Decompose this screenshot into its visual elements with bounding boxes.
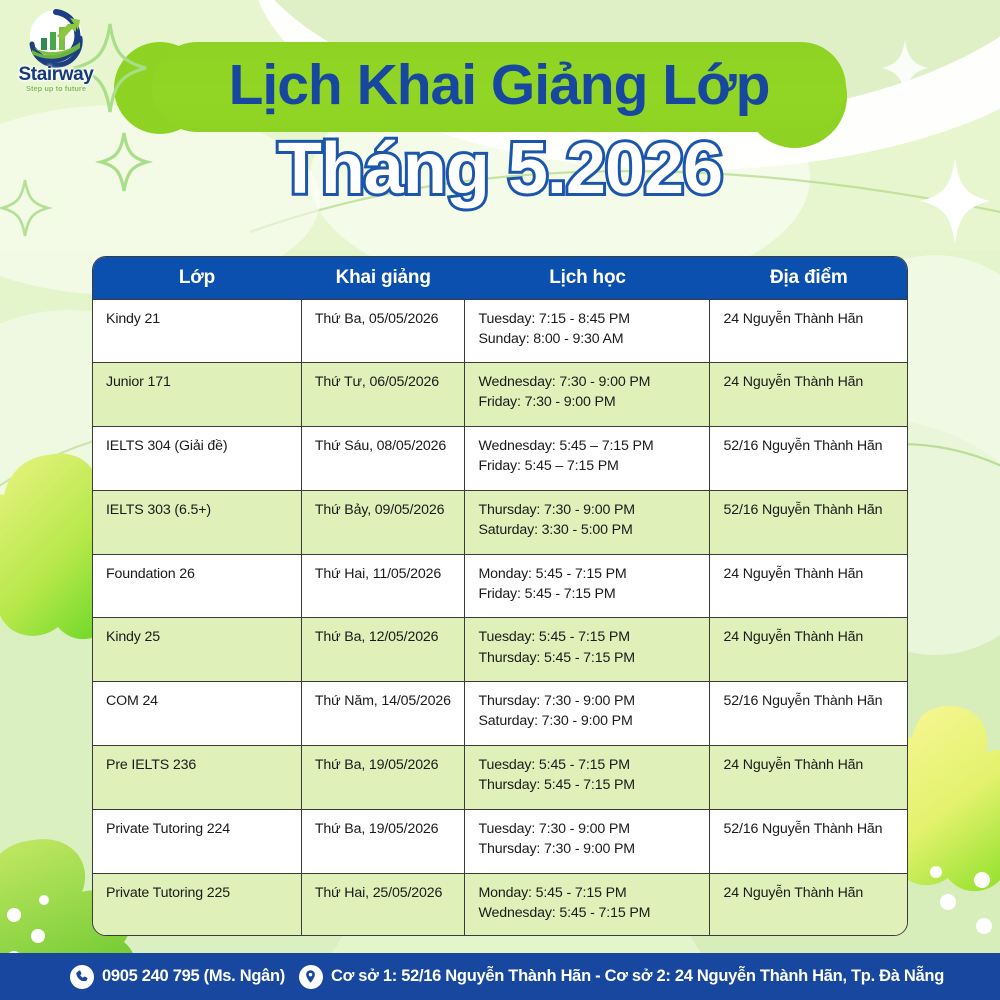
cell-start-date: Thứ Ba, 12/05/2026 xyxy=(301,618,465,682)
cell-location: 52/16 Nguyễn Thành Hãn xyxy=(710,809,907,873)
cell-schedule: Thursday: 7:30 - 9:00 PMSaturday: 7:30 -… xyxy=(465,682,710,746)
cell-class: Pre IELTS 236 xyxy=(93,746,301,810)
cell-location: 24 Nguyễn Thành Hãn xyxy=(710,746,907,810)
footer-phone[interactable]: 0905 240 795 (Ms. Ngân) xyxy=(70,965,285,989)
column-header-location: Địa điểm xyxy=(710,257,907,299)
schedule-line: Friday: 7:30 - 9:00 PM xyxy=(478,392,698,412)
cell-schedule: Monday: 5:45 - 7:15 PMWednesday: 5:45 - … xyxy=(465,873,710,936)
table-body: Kindy 21Thứ Ba, 05/05/2026Tuesday: 7:15 … xyxy=(93,299,907,936)
column-header-class: Lớp xyxy=(93,257,301,299)
cell-location: 24 Nguyễn Thành Hãn xyxy=(710,618,907,682)
page-title: Lịch Khai Giảng Lớp xyxy=(229,57,770,118)
cell-class: Foundation 26 xyxy=(93,554,301,618)
cell-class: IELTS 304 (Giải đề) xyxy=(93,427,301,491)
cell-schedule: Thursday: 7:30 - 9:00 PMSaturday: 3:30 -… xyxy=(465,490,710,554)
cell-location: 24 Nguyễn Thành Hãn xyxy=(710,873,907,936)
table-row: IELTS 303 (6.5+)Thứ Bảy, 09/05/2026Thurs… xyxy=(93,490,907,554)
table-row: Kindy 25Thứ Ba, 12/05/2026Tuesday: 5:45 … xyxy=(93,618,907,682)
cell-schedule: Wednesday: 7:30 - 9:00 PMFriday: 7:30 - … xyxy=(465,363,710,427)
schedule-line: Thursday: 7:30 - 9:00 PM xyxy=(478,500,698,520)
schedule-line: Tuesday: 7:30 - 9:00 PM xyxy=(478,819,698,839)
column-header-start-date: Khai giảng xyxy=(301,257,465,299)
cell-start-date: Thứ Ba, 05/05/2026 xyxy=(301,299,465,363)
cell-location: 24 Nguyễn Thành Hãn xyxy=(710,363,907,427)
table-row: IELTS 304 (Giải đề)Thứ Sáu, 08/05/2026We… xyxy=(93,427,907,491)
stairway-chart-arrow-logo-icon xyxy=(8,8,104,68)
table-row: Kindy 21Thứ Ba, 05/05/2026Tuesday: 7:15 … xyxy=(93,299,907,363)
cell-schedule: Tuesday: 5:45 - 7:15 PMThursday: 5:45 - … xyxy=(465,746,710,810)
contact-footer: 0905 240 795 (Ms. Ngân) Cơ sở 1: 52/16 N… xyxy=(0,953,1000,1000)
schedule-line: Thursday: 5:45 - 7:15 PM xyxy=(478,775,698,795)
cell-schedule: Wednesday: 5:45 – 7:15 PMFriday: 5:45 – … xyxy=(465,427,710,491)
schedule-line: Wednesday: 5:45 - 7:15 PM xyxy=(478,903,698,923)
schedule-line: Thursday: 7:30 - 9:00 PM xyxy=(478,691,698,711)
cell-class: Private Tutoring 225 xyxy=(93,873,301,936)
brand-logo[interactable]: Stairway Step up to future xyxy=(8,8,104,100)
cell-location: 24 Nguyễn Thành Hãn xyxy=(710,554,907,618)
brand-name: Stairway xyxy=(8,64,104,86)
schedule-line: Friday: 5:45 – 7:15 PM xyxy=(478,456,698,476)
footer-address-text: Cơ sở 1: 52/16 Nguyễn Thành Hãn - Cơ sở … xyxy=(331,967,944,986)
cell-location: 24 Nguyễn Thành Hãn xyxy=(710,299,907,363)
schedule-line: Monday: 5:45 - 7:15 PM xyxy=(478,564,698,584)
cell-start-date: Thứ Ba, 19/05/2026 xyxy=(301,809,465,873)
schedule-line: Tuesday: 5:45 - 7:15 PM xyxy=(478,627,698,647)
schedule-line: Monday: 5:45 - 7:15 PM xyxy=(478,883,698,903)
cell-start-date: Thứ Hai, 11/05/2026 xyxy=(301,554,465,618)
table-row: Foundation 26Thứ Hai, 11/05/2026Monday: … xyxy=(93,554,907,618)
cell-start-date: Thứ Tư, 06/05/2026 xyxy=(301,363,465,427)
schedule-line: Sunday: 8:00 - 9:30 AM xyxy=(478,329,698,349)
schedule-line: Tuesday: 5:45 - 7:15 PM xyxy=(478,755,698,775)
schedule-line: Wednesday: 7:30 - 9:00 PM xyxy=(478,372,698,392)
schedule-line: Saturday: 7:30 - 9:00 PM xyxy=(478,711,698,731)
title-banner: Lịch Khai Giảng Lớp xyxy=(152,42,846,132)
cell-class: IELTS 303 (6.5+) xyxy=(93,490,301,554)
cell-class: COM 24 xyxy=(93,682,301,746)
cell-location: 52/16 Nguyễn Thành Hãn xyxy=(710,427,907,491)
schedule-table: Lớp Khai giảng Lịch học Địa điểm Kindy 2… xyxy=(93,257,907,936)
schedule-line: Friday: 5:45 - 7:15 PM xyxy=(478,584,698,604)
table-row: Private Tutoring 225Thứ Hai, 25/05/2026M… xyxy=(93,873,907,936)
cell-schedule: Monday: 5:45 - 7:15 PMFriday: 5:45 - 7:1… xyxy=(465,554,710,618)
cell-location: 52/16 Nguyễn Thành Hãn xyxy=(710,682,907,746)
cell-start-date: Thứ Ba, 19/05/2026 xyxy=(301,746,465,810)
cell-class: Junior 171 xyxy=(93,363,301,427)
table-header-row: Lớp Khai giảng Lịch học Địa điểm xyxy=(93,257,907,299)
map-pin-icon xyxy=(299,965,323,989)
schedule-line: Wednesday: 5:45 – 7:15 PM xyxy=(478,436,698,456)
phone-icon xyxy=(70,965,94,989)
table-row: Private Tutoring 224Thứ Ba, 19/05/2026Tu… xyxy=(93,809,907,873)
cell-start-date: Thứ Hai, 25/05/2026 xyxy=(301,873,465,936)
page-subtitle: Tháng 5.2026 xyxy=(0,133,1000,205)
schedule-line: Thursday: 5:45 - 7:15 PM xyxy=(478,648,698,668)
cell-start-date: Thứ Năm, 14/05/2026 xyxy=(301,682,465,746)
cell-class: Private Tutoring 224 xyxy=(93,809,301,873)
footer-address[interactable]: Cơ sở 1: 52/16 Nguyễn Thành Hãn - Cơ sở … xyxy=(299,965,944,989)
column-header-schedule: Lịch học xyxy=(465,257,710,299)
cell-class: Kindy 21 xyxy=(93,299,301,363)
table-row: Junior 171Thứ Tư, 06/05/2026Wednesday: 7… xyxy=(93,363,907,427)
cell-class: Kindy 25 xyxy=(93,618,301,682)
table-row: Pre IELTS 236Thứ Ba, 19/05/2026Tuesday: … xyxy=(93,746,907,810)
footer-phone-text: 0905 240 795 (Ms. Ngân) xyxy=(102,967,285,986)
cell-start-date: Thứ Bảy, 09/05/2026 xyxy=(301,490,465,554)
schedule-line: Tuesday: 7:15 - 8:45 PM xyxy=(478,309,698,329)
table-row: COM 24Thứ Năm, 14/05/2026Thursday: 7:30 … xyxy=(93,682,907,746)
schedule-line: Saturday: 3:30 - 5:00 PM xyxy=(478,520,698,540)
cell-schedule: Tuesday: 7:15 - 8:45 PMSunday: 8:00 - 9:… xyxy=(465,299,710,363)
schedule-line: Thursday: 7:30 - 9:00 PM xyxy=(478,839,698,859)
cell-location: 52/16 Nguyễn Thành Hãn xyxy=(710,490,907,554)
cell-schedule: Tuesday: 7:30 - 9:00 PMThursday: 7:30 - … xyxy=(465,809,710,873)
cell-schedule: Tuesday: 5:45 - 7:15 PMThursday: 5:45 - … xyxy=(465,618,710,682)
schedule-table-card: Lớp Khai giảng Lịch học Địa điểm Kindy 2… xyxy=(92,256,908,936)
cell-start-date: Thứ Sáu, 08/05/2026 xyxy=(301,427,465,491)
brand-tagline: Step up to future xyxy=(8,84,104,93)
